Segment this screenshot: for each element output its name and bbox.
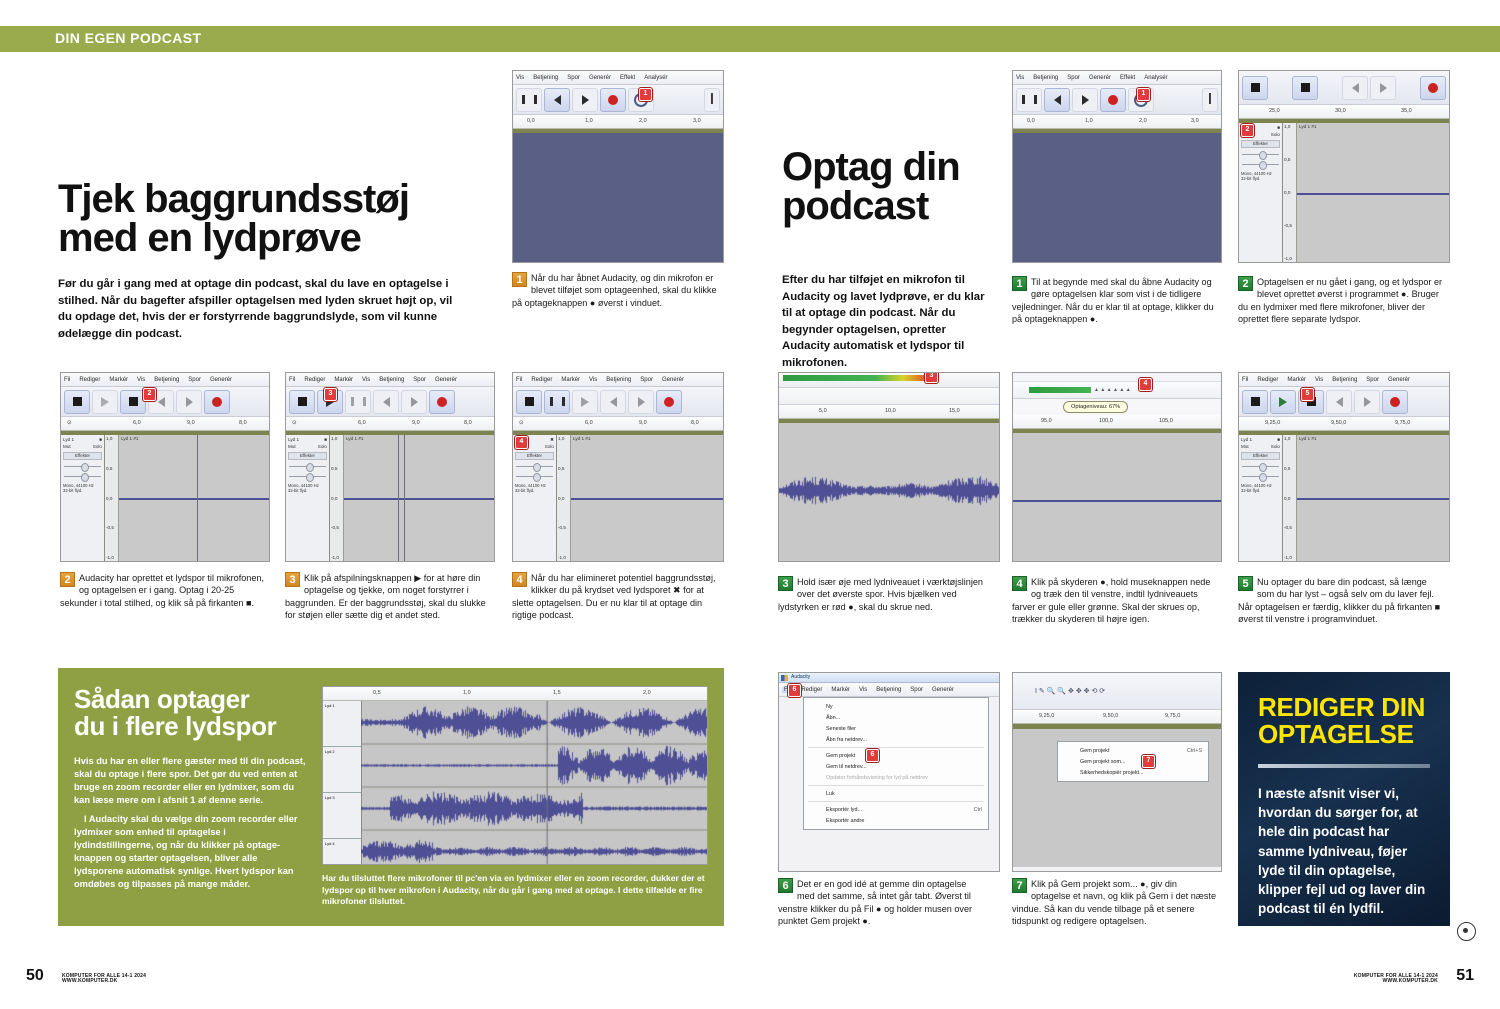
waveform-label: Lyd 1 #1	[1299, 124, 1316, 129]
menu-fil[interactable]: Fil	[516, 377, 522, 383]
effects-button[interactable]: Effekter	[1241, 452, 1280, 460]
track-area[interactable]: Lyd 1■ MutSolo Effekter Mono, 44100 Hz32…	[286, 435, 494, 561]
multitrack-canvas[interactable]: Lyd 1 Lyd 2 Lyd 3 Lyd 4	[323, 701, 707, 864]
menu-vis[interactable]: Vis	[137, 377, 145, 383]
menu-generer[interactable]: Generér	[1089, 75, 1111, 81]
audacity-menubar[interactable]: Fil Rediger Markér Vis Betjening Spor Ge…	[61, 373, 269, 387]
vertical-scale: 1,00,50,0-0,5-1,0	[1283, 123, 1297, 262]
transport-toolbar[interactable]	[1239, 71, 1449, 105]
transport-toolbar[interactable]: I 1	[1013, 85, 1221, 115]
right-headline-l1: Optag din	[782, 145, 960, 189]
darkbox-divider	[1258, 764, 1430, 768]
menu-vis[interactable]: Vis	[516, 75, 524, 81]
step-badge: 3	[778, 576, 793, 591]
menu-betjening[interactable]: Betjening	[154, 377, 179, 383]
next-button[interactable]	[1370, 76, 1396, 100]
audacity-menubar[interactable]: Fil Rediger Markér Vis Betjening Spor Ge…	[513, 373, 723, 387]
menu-vis[interactable]: Vis	[362, 377, 370, 383]
tools-toolbar[interactable]: I	[1202, 88, 1218, 112]
timeline-ruler[interactable]: 9,25,09,50,09,75,0	[1239, 417, 1449, 431]
effects-button[interactable]: Effekter	[288, 452, 327, 460]
record-button[interactable]	[1420, 76, 1446, 100]
close-track-icon[interactable]: ✖	[550, 437, 554, 443]
waveform-pane[interactable]: Lyd 1 #1	[571, 435, 723, 561]
menu-item-abn[interactable]: Åbn...	[804, 712, 988, 723]
track-name: Lyd 1	[288, 437, 299, 443]
running-head-bar	[0, 26, 1500, 52]
pause-button[interactable]	[544, 390, 570, 414]
menu-item-eksporter-andre[interactable]: Eksportér andre	[804, 815, 988, 826]
waveform-silence	[1013, 500, 1221, 502]
timeline-ruler[interactable]: 25,030,035,0	[1239, 105, 1449, 119]
menu-rediger[interactable]: Rediger	[79, 377, 100, 383]
caption-right-4: 4 Klik på skyderen ●, hold museknappen n…	[1012, 576, 1217, 625]
waveform-pane[interactable]: Lyd 1 #1	[119, 435, 269, 561]
track-area[interactable]: 4 Lyd 1✖ MutSolo Effekter Mono, 44100 Hz…	[513, 435, 723, 561]
timeline-ruler[interactable]: ⊙6,09,08,0	[286, 417, 494, 431]
menu-analyser[interactable]: Analysér	[1144, 75, 1167, 81]
menu-item-luk[interactable]: Luk	[804, 788, 988, 799]
menu-effekt[interactable]: Effekt	[620, 75, 635, 81]
screenshot-left-3[interactable]: Fil Rediger Markér Vis Betjening Spor Ge…	[285, 372, 495, 562]
recording-toolbar[interactable]: ▲ ▲ ▲ ▲ ▲ ▲ 4	[1013, 382, 1221, 399]
pause-button[interactable]	[1292, 76, 1318, 100]
transport-toolbar[interactable]: 5	[1239, 387, 1449, 417]
waveform-silence	[1297, 193, 1449, 195]
menu-vis[interactable]: Vis	[1315, 377, 1323, 383]
track-control-panel[interactable]: Lyd 1■ MutSolo Effekter Mono, 44100 Hz32…	[1239, 123, 1283, 262]
waveform-silence	[119, 498, 269, 500]
gain-slider[interactable]	[516, 463, 553, 470]
menu-generer[interactable]: Generér	[662, 377, 684, 383]
waveform-pane[interactable]: Lyd 1 #1	[344, 435, 494, 561]
waveform-pane[interactable]	[1013, 433, 1221, 561]
stop-button[interactable]	[516, 390, 542, 414]
pan-slider[interactable]	[1242, 161, 1279, 168]
menu-rediger[interactable]: Rediger	[531, 377, 552, 383]
menu-fil[interactable]: Fil	[289, 377, 295, 383]
waveform-label: Lyd 1 #1	[1299, 436, 1316, 441]
record-button[interactable]	[1382, 390, 1408, 414]
footmark-right: KOMPUTER FOR ALLE 14-1 2024WWW.KOMPUTER.…	[1354, 974, 1438, 986]
menu-item-eksporter-lyd[interactable]: Eksportér lyd...Ctrl	[804, 804, 988, 815]
menu-item-gem-projekt[interactable]: Gem projektCtrl+S	[1058, 745, 1208, 756]
menu-analyser[interactable]: Analysér	[644, 75, 667, 81]
timeline-ruler[interactable]: 0,01,02,03,0	[1013, 115, 1221, 129]
record-button[interactable]	[429, 390, 455, 414]
gain-slider[interactable]	[289, 463, 326, 470]
step-badge: 4	[1012, 576, 1027, 591]
menu-effekt[interactable]: Effekt	[1120, 75, 1135, 81]
save-submenu[interactable]: Gem projektCtrl+S Gem projekt som... 7 S…	[1057, 741, 1209, 782]
audacity-menubar[interactable]: Vis Betjening Spor Generér Effekt Analys…	[1013, 71, 1221, 85]
magazine-spread: DIN EGEN PODCAST Tjek baggrundsstøjmed e…	[0, 0, 1500, 1009]
menu-generer[interactable]: Generér	[932, 687, 954, 693]
menu-betjening[interactable]: Betjening	[1033, 75, 1058, 81]
right-intro: Efter du har tilføjet en mikrofon til Au…	[782, 272, 987, 371]
screenshot-left-4[interactable]: Fil Rediger Markér Vis Betjening Spor Ge…	[512, 372, 724, 562]
tools-toolbar[interactable]: I	[704, 88, 720, 112]
timeline-ruler[interactable]: ⊙6,09,08,0	[61, 417, 269, 431]
menu-betjening[interactable]: Betjening	[1332, 377, 1357, 383]
darkbox-body: I næste afsnit viser vi, hvordan du sørg…	[1258, 784, 1430, 918]
next-button[interactable]	[401, 390, 427, 414]
menu-vis[interactable]: Vis	[1016, 75, 1024, 81]
page-gutter	[749, 52, 751, 957]
track-area[interactable]: Lyd 1■ MutSolo Effekter Mono, 44100 Hz32…	[61, 435, 269, 561]
menu-betjening[interactable]: Betjening	[533, 75, 558, 81]
audacity-menubar[interactable]: Fil Rediger Markér Vis Betjening Spor Ge…	[779, 683, 999, 697]
caption-right-6: 6 Det er en god idé at gemme din optagel…	[778, 878, 983, 927]
screenshot-left-1[interactable]: Vis Betjening Spor Generér Effekt Analys…	[512, 70, 724, 263]
waveform-pane[interactable]: Lyd 1 #1	[1297, 123, 1449, 262]
vertical-scale: 1,00,50,0-0,5-1,0	[330, 435, 344, 561]
play-button[interactable]	[1270, 390, 1296, 414]
menu-vis[interactable]: Vis	[589, 377, 597, 383]
left-headline-l2: med en lydprøve	[58, 216, 361, 260]
record-button[interactable]	[656, 390, 682, 414]
menu-marker[interactable]: Markér	[831, 687, 850, 693]
menu-betjening[interactable]: Betjening	[876, 687, 901, 693]
track-name: Lyd 1	[1241, 437, 1252, 443]
track-control-panel[interactable]: Lyd 1✖ MutSolo Effekter Mono, 44100 Hz32…	[513, 435, 557, 561]
prev-button[interactable]	[1326, 390, 1352, 414]
timeline-ruler[interactable]: 5,010,015,0	[779, 405, 999, 419]
page-dot-mark	[1457, 922, 1476, 941]
right-headline-l2: podcast	[782, 184, 928, 228]
menu-item-gem-til-netdrev[interactable]: Gem til netdrev...	[804, 761, 988, 772]
menu-item-abn-fra-netdrev[interactable]: Åbn fra netdrev...	[804, 734, 988, 745]
next-button[interactable]	[176, 390, 202, 414]
track-area[interactable]: Lyd 1■ MutSolo Effekter Mono, 44100 Hz32…	[1239, 435, 1449, 561]
timeline-ruler[interactable]: 95,0100,0105,0	[1013, 415, 1221, 429]
waveform-silence	[344, 498, 494, 500]
window-title: Audacity	[791, 674, 810, 680]
level-meter-bar	[1029, 387, 1091, 393]
waveform-silence	[1297, 498, 1449, 500]
caption-right-5: 5 Nu optager du bare din podcast, så læn…	[1238, 576, 1446, 625]
menu-fil[interactable]: Fil	[64, 377, 70, 383]
screenshot-right-4[interactable]: ▲ ▲ ▲ ▲ ▲ ▲ 4 Optageniveau: 67% 95,0100,…	[1012, 372, 1222, 562]
prev-button[interactable]	[1342, 76, 1368, 100]
callout-marker-4: 4	[515, 436, 528, 449]
left-headline-l1: Tjek baggrundsstøj	[58, 177, 409, 221]
audacity-menubar[interactable]: Fil Rediger Markér Vis Betjening Spor Ge…	[1239, 373, 1449, 387]
menu-betjening[interactable]: Betjening	[379, 377, 404, 383]
menu-spor[interactable]: Spor	[567, 75, 580, 81]
step-badge: 1	[1012, 276, 1027, 291]
audacity-menubar[interactable]: Vis Betjening Spor Generér Effekt Analys…	[513, 71, 723, 85]
step-badge: 2	[1238, 276, 1253, 291]
next-button[interactable]	[572, 88, 598, 112]
window-titlebar: Audacity	[779, 673, 999, 683]
empty-track-canvas[interactable]	[1013, 133, 1221, 262]
screenshot-right-7[interactable]: I ✎ 🔍 🔍 ✥ ✥ ✥ ⟲ ⟳ 9,25,09,50,09,75,0 Gem…	[1012, 672, 1222, 872]
caption-right-2: 2 Optagelsen er nu gået i gang, og et ly…	[1238, 276, 1446, 325]
menu-fil[interactable]: Fil	[1242, 377, 1248, 383]
step-badge: 7	[1012, 878, 1027, 893]
track-name: Lyd 1	[63, 437, 74, 443]
callout-marker-1: 1	[639, 88, 652, 101]
track-area[interactable]: Gem projektCtrl+S Gem projekt som... 7 S…	[1013, 729, 1221, 867]
step-badge: 1	[512, 272, 527, 287]
tooltip-row: Optageniveau: 67%	[1013, 399, 1221, 415]
step-badge: 5	[1238, 576, 1253, 591]
transport-toolbar[interactable]	[513, 387, 723, 417]
audacity-menubar[interactable]: Fil Rediger Markér Vis Betjening Spor Ge…	[286, 373, 494, 387]
pan-slider[interactable]	[1242, 473, 1279, 480]
file-dropdown-menu[interactable]: Ny Åbn... Seneste filer Åbn fra netdrev.…	[803, 697, 989, 830]
waveform-pane[interactable]: Lyd 1 #1	[1297, 435, 1449, 561]
darkbox-title: Rediger dinoptagelse	[1258, 694, 1430, 748]
toolbar-strip[interactable]	[779, 388, 999, 405]
menu-spor[interactable]: Spor	[640, 377, 653, 383]
pan-slider[interactable]	[289, 473, 326, 480]
screenshot-right-5[interactable]: Fil Rediger Markér Vis Betjening Spor Ge…	[1238, 372, 1450, 562]
running-head-label: DIN EGEN PODCAST	[55, 30, 201, 46]
record-button[interactable]	[204, 390, 230, 414]
prev-button[interactable]	[544, 88, 570, 112]
callout-marker-2: 2	[143, 388, 156, 401]
prev-button[interactable]	[373, 390, 399, 414]
callout-marker-3: 3	[324, 388, 337, 401]
caption-left-1: 1 Når du har åbnet Audacity, og din mikr…	[512, 272, 724, 309]
transport-toolbar[interactable]: 3	[286, 387, 494, 417]
callout-marker-1: 1	[1137, 88, 1150, 101]
gain-slider[interactable]	[1242, 463, 1279, 470]
waveform-label: Lyd 1 #1	[121, 436, 138, 441]
effects-button[interactable]: Effekter	[63, 452, 102, 460]
menu-spor[interactable]: Spor	[1366, 377, 1379, 383]
pause-button[interactable]	[516, 88, 542, 112]
callout-marker-6: 6	[788, 684, 801, 697]
timeline-ruler[interactable]: 0,51,01,52,0	[323, 687, 707, 701]
screenshot-right-3[interactable]: 3 5,010,015,0	[778, 372, 1000, 562]
track-area[interactable]: 2 Lyd 1■ MutSolo Effekter Mono, 44100 Hz…	[1239, 123, 1449, 262]
track-control-panel[interactable]: Lyd 1■ MutSolo Effekter Mono, 44100 Hz32…	[286, 435, 330, 561]
vertical-scale: 1,00,50,0-0,5-1,0	[1283, 435, 1297, 561]
stop-button[interactable]	[1242, 390, 1268, 414]
step-badge: 6	[778, 878, 793, 893]
callout-marker-5: 5	[1301, 388, 1314, 401]
next-button[interactable]	[1072, 88, 1098, 112]
step-badge: 2	[60, 572, 75, 587]
screenshot-multitrack[interactable]: 0,51,01,52,0 Lyd 1 Lyd 2 Lyd 3 Lyd 4	[322, 686, 708, 865]
play-button[interactable]	[92, 390, 118, 414]
greenbox-caption: Har du tilsluttet flere mikrofoner til p…	[322, 873, 708, 908]
menu-item-ny[interactable]: Ny	[804, 701, 988, 712]
callout-marker-2: 2	[1241, 124, 1254, 137]
stop-button[interactable]	[64, 390, 90, 414]
record-button[interactable]	[600, 88, 626, 112]
waveform-label: Lyd 1 #1	[346, 436, 363, 441]
timeline-ruler[interactable]: ⊙6,09,08,0	[513, 417, 723, 431]
effects-button[interactable]: Effekter	[1241, 140, 1280, 148]
menu-spor[interactable]: Spor	[188, 377, 201, 383]
timeline-ruler[interactable]: 0,01,02,03,0	[513, 115, 723, 129]
dark-teaser-box: Rediger dinoptagelse I næste afsnit vise…	[1238, 672, 1450, 926]
green-feature-box: Sådan optagerdu i flere lydspor Hvis du …	[58, 668, 724, 926]
menu-rediger[interactable]: Rediger	[304, 377, 325, 383]
menu-generer[interactable]: Generér	[210, 377, 232, 383]
menu-generer[interactable]: Generér	[589, 75, 611, 81]
level-meter-bar	[783, 375, 933, 381]
prev-button[interactable]	[600, 390, 626, 414]
vertical-scale: 1,00,50,0-0,5-1,0	[557, 435, 571, 561]
step-badge: 4	[512, 572, 527, 587]
prev-button[interactable]	[1044, 88, 1070, 112]
screenshot-right-6[interactable]: Audacity Fil Rediger Markér Vis Betjenin…	[778, 672, 1000, 872]
menu-item-sikkerhedskopier-projekt[interactable]: Sikkerhedskopiér projekt...	[1058, 767, 1208, 778]
waveform-pane[interactable]	[779, 423, 999, 561]
folio-right: 51	[1456, 967, 1474, 985]
menu-rediger[interactable]: Rediger	[801, 687, 822, 693]
pan-slider[interactable]	[64, 473, 101, 480]
next-button[interactable]	[1354, 390, 1380, 414]
menu-spor[interactable]: Spor	[910, 687, 923, 693]
menu-marker[interactable]: Markér	[1287, 377, 1306, 383]
transport-toolbar[interactable]: I 1	[513, 85, 723, 115]
record-button[interactable]	[1100, 88, 1126, 112]
timeline-ruler[interactable]: 9,25,09,50,09,75,0	[1013, 710, 1221, 724]
menu-generer[interactable]: Generér	[1388, 377, 1410, 383]
vertical-scale: 1,00,50,0-0,5-1,0	[105, 435, 119, 561]
folio-left: 50	[26, 967, 44, 985]
transport-toolbar[interactable]: 2	[61, 387, 269, 417]
menu-generer[interactable]: Generér	[435, 377, 457, 383]
effects-button[interactable]: Effekter	[515, 452, 554, 460]
menu-item-gem-projekt[interactable]: Gem projekt 6	[804, 750, 988, 761]
left-headline: Tjek baggrundsstøjmed en lydprøve	[58, 180, 468, 258]
gain-slider[interactable]	[64, 463, 101, 470]
waveform-silence	[571, 498, 723, 500]
left-intro: Før du går i gang med at optage din podc…	[58, 276, 458, 342]
menu-betjening[interactable]: Betjening	[606, 377, 631, 383]
recording-level-tooltip: Optageniveau: 67%	[1063, 401, 1128, 413]
caption-right-3: 3 Hold især øje med lydniveauet i værktø…	[778, 576, 983, 613]
callout-marker-4: 4	[1139, 378, 1152, 391]
greenbox-title: Sådan optagerdu i flere lydspor	[74, 686, 306, 741]
track-control-panel[interactable]: Lyd 1■ MutSolo Effekter Mono, 44100 Hz32…	[61, 435, 105, 561]
screenshot-right-2[interactable]: 25,030,035,0 2 Lyd 1■ MutSolo Effekter M…	[1238, 70, 1450, 263]
caption-left-2: 2 Audacity har oprettet et lydspor til m…	[60, 572, 265, 609]
menu-marker[interactable]: Markér	[334, 377, 353, 383]
multitrack-panels[interactable]: Lyd 1 Lyd 2 Lyd 3 Lyd 4	[323, 701, 362, 864]
menu-spor[interactable]: Spor	[413, 377, 426, 383]
next-button[interactable]	[628, 390, 654, 414]
caption-right-7: 7 Klik på Gem projekt som... ●, giv din …	[1012, 878, 1217, 927]
step-badge: 3	[285, 572, 300, 587]
greenbox-body-1: Hvis du har en eller flere gæster med ti…	[74, 755, 306, 807]
caption-left-4: 4 Når du har elimineret potentiel baggru…	[512, 572, 720, 621]
stop-button[interactable]	[289, 390, 315, 414]
greenbox-body-2: I Audacity skal du vælge din zoom record…	[74, 813, 306, 891]
track-control-panel[interactable]: Lyd 1■ MutSolo Effekter Mono, 44100 Hz32…	[1239, 435, 1283, 561]
right-headline: Optag dinpodcast	[782, 148, 1002, 226]
menu-marker[interactable]: Markér	[561, 377, 580, 383]
tools-toolbar[interactable]: I ✎ 🔍 🔍 ✥ ✥ ✥ ⟲ ⟳	[1013, 673, 1221, 710]
waveform-label: Lyd 1 #1	[573, 436, 590, 441]
play-button[interactable]	[572, 390, 598, 414]
menu-spor[interactable]: Spor	[1067, 75, 1080, 81]
menu-rediger[interactable]: Rediger	[1257, 377, 1278, 383]
menu-item-gem-projekt-som[interactable]: Gem projekt som... 7	[1058, 756, 1208, 767]
screenshot-right-1[interactable]: Vis Betjening Spor Generér Effekt Analys…	[1012, 70, 1222, 263]
stop-button[interactable]	[1242, 76, 1268, 100]
pause-button[interactable]	[345, 390, 371, 414]
pause-button[interactable]	[1016, 88, 1042, 112]
footmark-left: KOMPUTER FOR ALLE 14-1 2024WWW.KOMPUTER.…	[62, 974, 146, 986]
recording-level-meter[interactable]: 3	[779, 373, 999, 388]
menu-item-seneste-filer[interactable]: Seneste filer	[804, 723, 988, 734]
caption-right-1: 1 Til at begynde med skal du åbne Audaci…	[1012, 276, 1217, 325]
callout-marker-3: 3	[925, 372, 938, 383]
menu-item-opdater-forhandsvisning: Opdater forhåndsvisning for lyd på netdr…	[804, 772, 988, 783]
caption-left-3: 3 Klik på afspilningsknappen ▶ for at hø…	[285, 572, 490, 621]
screenshot-left-2[interactable]: Fil Rediger Markér Vis Betjening Spor Ge…	[60, 372, 270, 562]
menu-vis[interactable]: Vis	[859, 687, 867, 693]
gain-slider[interactable]	[1242, 151, 1279, 158]
menu-marker[interactable]: Markér	[109, 377, 128, 383]
pan-slider[interactable]	[516, 473, 553, 480]
empty-track-canvas[interactable]	[513, 133, 723, 262]
